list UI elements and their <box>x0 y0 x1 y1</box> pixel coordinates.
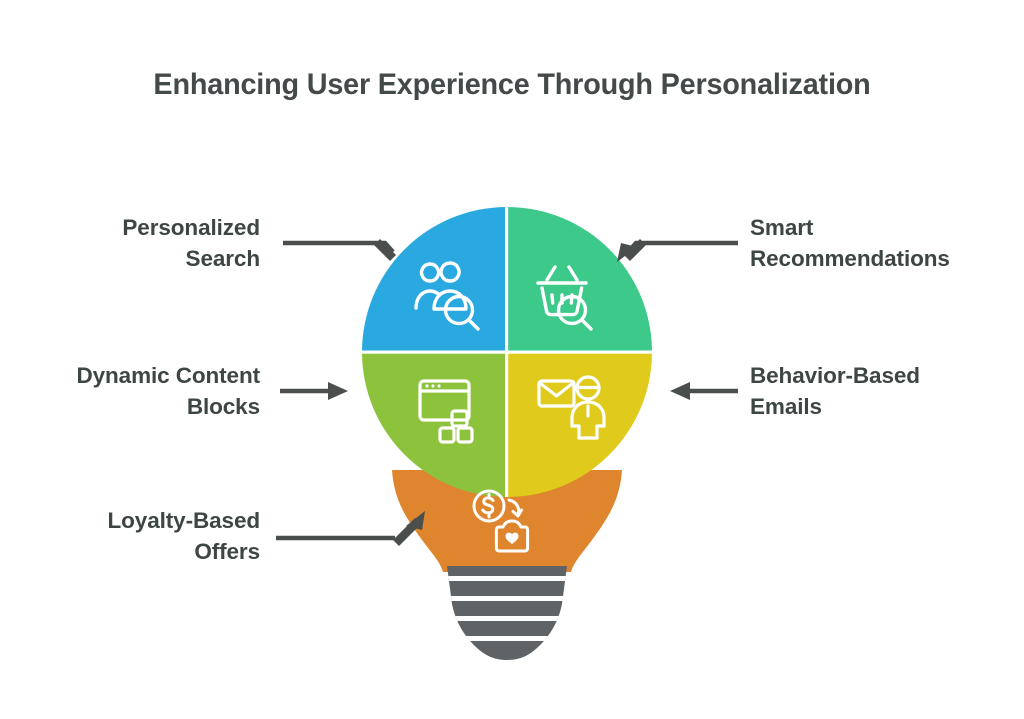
label-dynamic-content-blocks: Dynamic Content Blocks <box>10 360 260 422</box>
label-behavior-based-emails: Behavior-Based Emails <box>750 360 1010 422</box>
arrow-loyalty-offers <box>276 511 425 546</box>
arrow-personalized-search <box>283 239 396 261</box>
label-smart-recommendations: Smart Recommendations <box>750 212 1020 274</box>
arrow-behavior-emails <box>670 382 738 400</box>
arrow-smart-recommendations <box>617 239 738 262</box>
infographic-canvas: Enhancing User Experience Through Person… <box>0 0 1024 719</box>
label-loyalty-based-offers: Loyalty-Based Offers <box>20 505 260 567</box>
arrow-dynamic-content <box>280 382 348 400</box>
label-personalized-search: Personalized Search <box>20 212 260 274</box>
